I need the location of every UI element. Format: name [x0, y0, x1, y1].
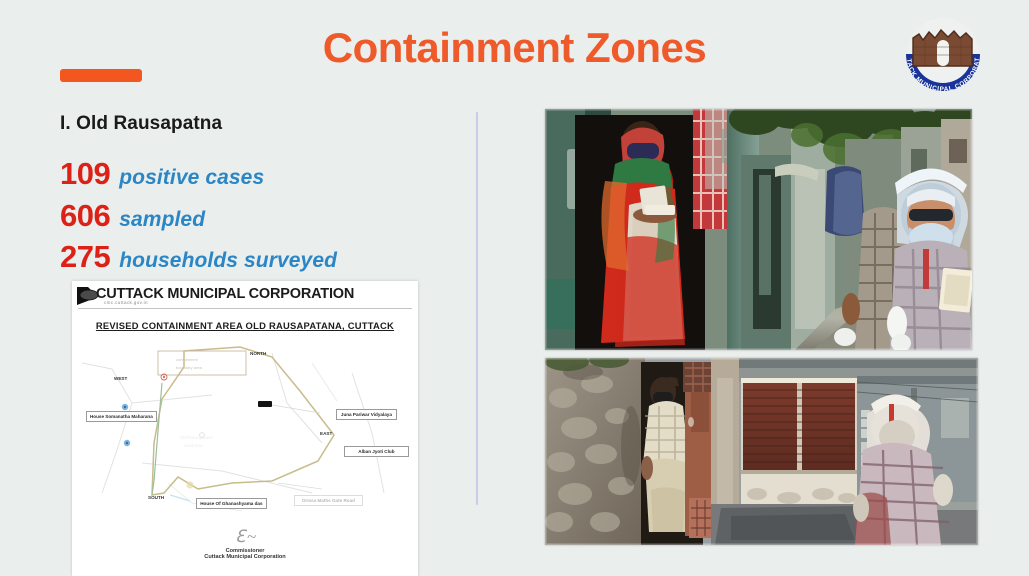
- svg-text:ward area: ward area: [184, 443, 203, 448]
- stat-sampled: 606sampled: [60, 198, 205, 234]
- photo-survey-doorway-woman: [545, 109, 972, 350]
- map-header-rule: [78, 308, 412, 309]
- map-label-south: SOUTH: [148, 495, 164, 501]
- stat-number: 109: [60, 156, 110, 191]
- map-title: REVISED CONTAINMENT AREA OLD RAUSAPATANA…: [72, 319, 418, 332]
- slide-canvas: Containment Zones CUTTACK MUNICIPAL CORP…: [0, 0, 1029, 576]
- map-org-header: CUTTACK MUNICIPAL CORPORATION cmc.cuttac…: [72, 285, 418, 307]
- page-title: Containment Zones: [0, 24, 1029, 72]
- vertical-divider: [476, 112, 478, 505]
- signature-mark: ℇ ~: [72, 527, 418, 547]
- map-drawing: containment boundary area Old Rausap: [72, 343, 418, 528]
- stat-number: 275: [60, 239, 110, 274]
- stat-positive-cases: 109positive cases: [60, 156, 264, 192]
- svg-text:Old Rausapatana: Old Rausapatana: [180, 435, 213, 440]
- stat-number: 606: [60, 198, 110, 233]
- stat-label: households surveyed: [119, 249, 337, 272]
- map-label-house-somanatha: House Somanatha Maharana: [86, 411, 157, 422]
- section-heading: I. Old Rausapatna: [60, 113, 222, 135]
- map-label-east: EAST: [320, 431, 332, 437]
- map-label-house-ghanashyama: House Of Ghanashyama das: [196, 498, 267, 509]
- map-signature-block: ℇ ~ Commissioner Cuttack Municipal Corpo…: [72, 527, 418, 560]
- map-label-north: NORTH: [250, 351, 266, 357]
- photo-survey-gate-street: [545, 358, 978, 545]
- cuttack-municipal-corporation-logo: CUTTACK MUNICIPAL CORPORATION: [893, 14, 993, 92]
- map-label-orissa-maths-gate-road: Orissa Maths Gate Road: [294, 495, 363, 506]
- svg-text:boundary area: boundary area: [176, 365, 203, 370]
- containment-area-map: CUTTACK MUNICIPAL CORPORATION cmc.cuttac…: [72, 281, 418, 576]
- map-label-alban-jyoti-club: Alban Jyoti Club: [344, 446, 409, 457]
- signature-organisation: Cuttack Municipal Corporation: [72, 554, 418, 560]
- svg-text:containment: containment: [176, 357, 199, 362]
- map-label-juna-pariwar: Juna Pariwar Vidyalaya: [336, 409, 397, 420]
- stat-label: sampled: [119, 208, 205, 231]
- accent-bar: [60, 69, 142, 82]
- map-org-subtext: cmc.cuttack.gov.in: [104, 300, 148, 305]
- stat-label: positive cases: [119, 166, 264, 189]
- stat-households-surveyed: 275households surveyed: [60, 239, 337, 275]
- map-label-west: WEST: [114, 376, 127, 382]
